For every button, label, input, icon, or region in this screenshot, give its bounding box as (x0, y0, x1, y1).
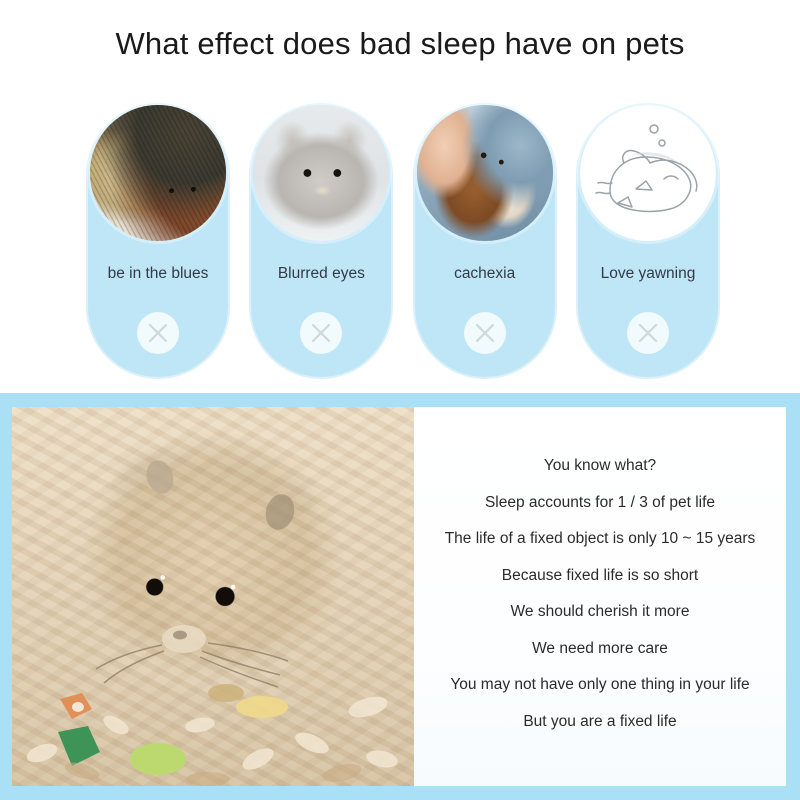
panel-text-block: You know what? Sleep accounts for 1 / 3 … (414, 407, 786, 786)
symptom-card-label: cachexia (415, 265, 555, 283)
bedding-treats (12, 407, 414, 786)
bottom-panel-inner: You know what? Sleep accounts for 1 / 3 … (12, 407, 786, 786)
symptom-card-list: be in the blues Blurred eyes (88, 105, 718, 377)
infographic-page: What effect does bad sleep have on pets … (0, 0, 800, 800)
x-circle-icon[interactable] (464, 312, 506, 354)
panel-text-line: We need more care (532, 630, 668, 667)
symptom-card-be-in-the-blues[interactable]: be in the blues (88, 105, 228, 377)
bottom-panel: You know what? Sleep accounts for 1 / 3 … (0, 393, 800, 800)
hedgehog-photo (90, 105, 226, 241)
x-circle-icon[interactable] (300, 312, 342, 354)
chinchilla-photo (253, 105, 389, 241)
symptom-card-cachexia[interactable]: cachexia (415, 105, 555, 377)
guinea-pig-photo (417, 105, 553, 241)
panel-text-line: You know what? (544, 448, 656, 485)
symptom-card-love-yawning[interactable]: Love yawning (578, 105, 718, 377)
symptom-card-blurred-eyes[interactable]: Blurred eyes (251, 105, 391, 377)
panel-text-line: You may not have only one thing in your … (450, 667, 749, 704)
symptom-card-label: be in the blues (88, 265, 228, 283)
panel-text-line: Sleep accounts for 1 / 3 of pet life (485, 484, 715, 521)
panel-text-line: The life of a fixed object is only 10 ~ … (445, 521, 756, 558)
gerbil-on-bedding-photo (12, 407, 414, 786)
x-circle-icon[interactable] (627, 312, 669, 354)
panel-text-line: We should cherish it more (511, 594, 690, 631)
symptom-card-label: Blurred eyes (251, 265, 391, 283)
x-circle-icon[interactable] (137, 312, 179, 354)
page-title: What effect does bad sleep have on pets (0, 26, 800, 62)
panel-text-line: Because fixed life is so short (502, 557, 698, 594)
panel-text-line: But you are a fixed life (523, 703, 676, 740)
symptom-card-label: Love yawning (578, 265, 718, 283)
sleeping-hamster-illustration (580, 105, 716, 241)
